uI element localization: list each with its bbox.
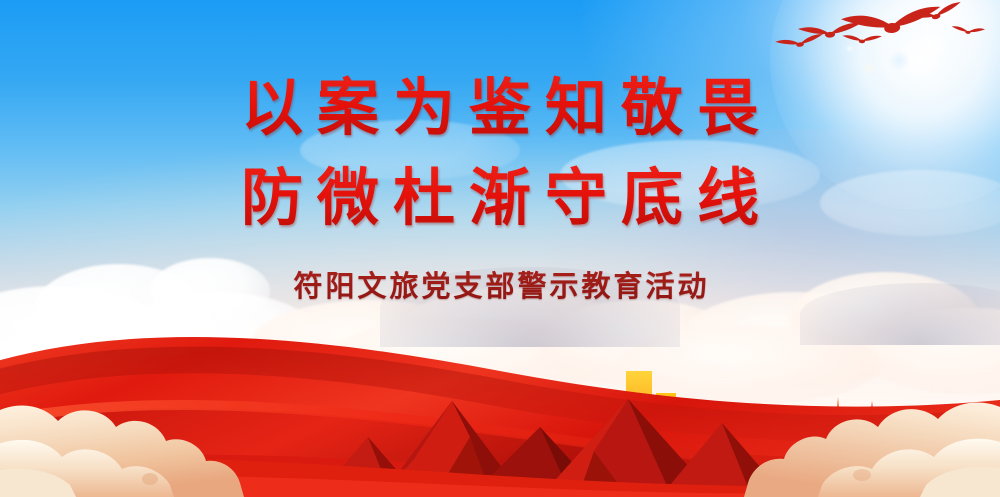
auspicious-clouds [0,357,1000,497]
bird-icon [775,34,824,50]
headline-line-2: 防微杜渐守底线 [0,154,1000,244]
bird-icon [842,35,882,44]
cloud-left-corner [0,406,244,497]
headline-block: 以案为鉴知敬畏 防微杜渐守底线 符阳文旅党支部警示教育活动 [0,64,1000,304]
bird-icon [951,25,985,35]
cloud-right-corner [744,402,1000,497]
headline-line-1: 以案为鉴知敬畏 [0,64,1000,154]
poster-canvas: 以案为鉴知敬畏 防微杜渐守底线 符阳文旅党支部警示教育活动 [0,0,1000,497]
bird-icon [841,6,943,38]
subtitle-text: 符阳文旅党支部警示教育活动 [0,270,1000,304]
